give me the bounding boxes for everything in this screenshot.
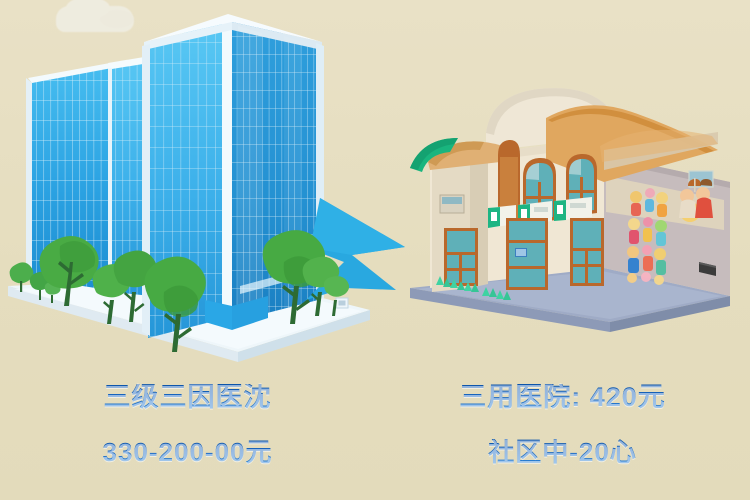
caption-area: 三级三因医沈 330-200-00元 三用医院: 420元 社区中-20心 <box>0 368 750 500</box>
signboard <box>554 197 592 221</box>
hospital-tower-illustration <box>8 14 405 362</box>
children-mural <box>625 186 669 285</box>
window-ground <box>570 218 604 286</box>
door-ground-main <box>506 218 548 290</box>
right-caption-line-1: 三用医院: 420元 <box>459 384 666 411</box>
community-clinic-illustration <box>410 88 730 332</box>
illustration-canvas: 三级三因医沈 330-200-00元 三用医院: 420元 社区中-20心 <box>0 0 750 500</box>
window-ground <box>444 228 478 286</box>
left-caption-column: 三级三因医沈 330-200-00元 <box>0 368 375 500</box>
clinic-ground-windows <box>444 218 604 290</box>
left-caption-line-2: 330-200-00元 <box>103 439 273 465</box>
right-caption-line-2: 社区中-20心 <box>488 439 637 465</box>
left-caption-line-1: 三级三因医沈 <box>104 384 272 411</box>
right-caption-column: 三用医院: 420元 社区中-20心 <box>375 368 750 500</box>
